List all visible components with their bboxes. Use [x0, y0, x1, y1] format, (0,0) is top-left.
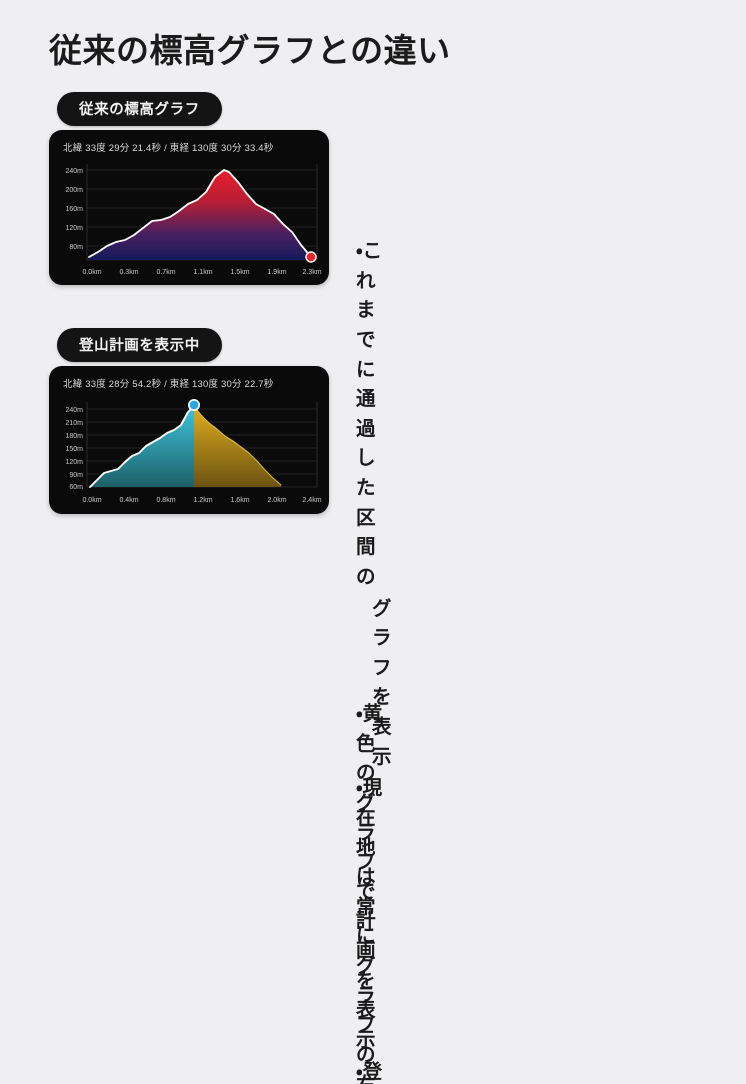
coordinates-label-2: 北緯 33度 28分 54.2秒 / 東経 130度 30分 22.7秒 [63, 376, 274, 390]
chart-y-axis-2: 240m 210m 180m 150m 120m 90m 60m [65, 407, 83, 491]
badge-plan-graph: 登山計画を表示中 [57, 328, 222, 362]
current-position-marker-icon-2[interactable] [189, 400, 199, 410]
bullet-text: ・黄色のグラフで計画を表示 [356, 700, 394, 1056]
svg-text:1.2km: 1.2km [193, 497, 212, 504]
bullet-item: ・黄色のグラフで計画を表示 [356, 700, 394, 1056]
svg-text:2.3km: 2.3km [302, 269, 321, 276]
svg-text:0.7km: 0.7km [156, 269, 175, 276]
svg-text:0.0km: 0.0km [82, 269, 101, 276]
svg-text:1.6km: 1.6km [230, 497, 249, 504]
svg-text:120m: 120m [65, 225, 83, 232]
svg-text:80m: 80m [69, 244, 83, 251]
svg-text:0.8km: 0.8km [156, 497, 175, 504]
bullet-text: ・これまでに通過した区間の [356, 237, 392, 593]
svg-text:2.0km: 2.0km [267, 497, 286, 504]
chart-x-axis-1: 0.0km 0.3km 0.7km 1.1km 1.5km 1.9km 2.3k… [82, 269, 321, 276]
chart-area-fill-traveled [90, 406, 194, 487]
svg-text:180m: 180m [65, 433, 83, 440]
slide-root: 従来の標高グラフとの違い 従来の標高グラフ 北緯 33度 29分 21.4秒 /… [0, 0, 746, 542]
svg-text:120m: 120m [65, 459, 83, 466]
svg-text:240m: 240m [65, 168, 83, 175]
current-position-marker-icon-1[interactable] [306, 252, 316, 262]
badge-traditional-graph: 従来の標高グラフ [57, 92, 222, 126]
chart-card-plan[interactable]: 北緯 33度 28分 54.2秒 / 東経 130度 30分 22.7秒 [49, 366, 329, 514]
svg-text:210m: 210m [65, 420, 83, 427]
svg-text:0.3km: 0.3km [119, 269, 138, 276]
svg-text:0.0km: 0.0km [82, 497, 101, 504]
svg-text:60m: 60m [69, 484, 83, 491]
chart-area-fill-1 [89, 170, 311, 260]
chart-y-axis-1: 240m 200m 160m 120m 80m [65, 168, 83, 251]
svg-text:0.4km: 0.4km [119, 497, 138, 504]
svg-text:1.1km: 1.1km [193, 269, 212, 276]
svg-text:90m: 90m [69, 472, 83, 479]
chart-svg-plan: 240m 210m 180m 150m 120m 90m 60m 0.0km 0… [49, 392, 329, 514]
svg-text:150m: 150m [65, 446, 83, 453]
svg-text:1.9km: 1.9km [267, 269, 286, 276]
chart-area-fill-planned [194, 406, 281, 487]
svg-text:160m: 160m [65, 206, 83, 213]
elevation-chart-traditional[interactable]: 240m 200m 160m 120m 80m 0.0km 0.3km 0.7k… [49, 156, 329, 285]
svg-text:200m: 200m [65, 187, 83, 194]
coordinates-label-1: 北緯 33度 29分 21.4秒 / 東経 130度 30分 33.4秒 [63, 140, 274, 154]
chart-svg-traditional: 240m 200m 160m 120m 80m 0.0km 0.3km 0.7k… [49, 156, 329, 285]
chart-card-traditional[interactable]: 北緯 33度 29分 21.4秒 / 東経 130度 30分 33.4秒 [49, 130, 329, 285]
svg-text:1.5km: 1.5km [230, 269, 249, 276]
page-title: 従来の標高グラフとの違い [49, 24, 451, 72]
svg-text:240m: 240m [65, 407, 83, 414]
chart-x-axis-2: 0.0km 0.4km 0.8km 1.2km 1.6km 2.0km 2.4k… [82, 497, 321, 504]
bullet-text: ・登山計画に沿って、これか [356, 1058, 394, 1084]
svg-text:2.4km: 2.4km [302, 497, 321, 504]
bullet-item: ・登山計画に沿って、これか [356, 1058, 394, 1084]
elevation-chart-plan[interactable]: 240m 210m 180m 150m 120m 90m 60m 0.0km 0… [49, 392, 329, 514]
bullet-list-plan: ・黄色のグラフで計画を表示 ・登山計画に沿って、これか ら通過予定の区間の地形が… [356, 700, 394, 1084]
bullet-item: ・これまでに通過した区間の [356, 237, 392, 593]
